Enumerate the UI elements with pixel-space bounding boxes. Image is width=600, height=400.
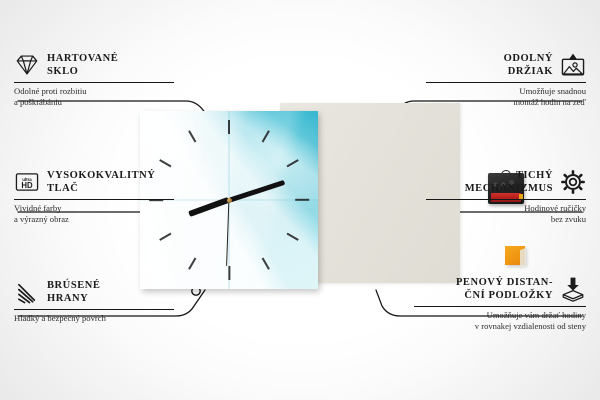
feature-title-line2: SKLO [47,65,118,78]
feature-desc-line2: v rovnakej vzdialenosti od steny [414,321,586,332]
feature-title: BRÚSENÉ HRANY [47,279,100,305]
feature-desc-line2: montáž hodin na zeď [426,97,586,108]
clock-tick-3 [295,199,309,201]
clock-tick-12 [228,120,230,134]
feature-title: HARTOVANÉ SKLO [47,52,118,78]
feature-header: ODOLNÝ DRŽIAK [426,52,586,78]
feature-desc-line1: Hladký a bezpečný povrch [14,313,174,324]
feature-title-line1: VYSOKOKVALITNÝ [47,169,155,182]
feature-header: ultra HD VYSOKOKVALITNÝ TLAČ [14,169,174,195]
feature-title-line1: PENOVÝ DISTAN- [456,276,553,289]
divider [14,199,174,200]
feature-desc-line1: Umožňuje vám držať hodiny [414,310,586,321]
feature-description: Odolné proti rozbitiu a poškrábániu [14,86,174,108]
feature-header: TICHÝ MECHANIZMUS [426,169,586,195]
feature-header: HARTOVANÉ SKLO [14,52,174,78]
feature-title: TICHÝ MECHANIZMUS [465,169,553,195]
clock-center-pin [227,198,232,203]
product-infographic: HARTOVANÉ SKLO Odolné proti rozbitiu a p… [0,0,600,400]
feature-description: Hladký a bezpečný povrch [14,313,174,324]
svg-text:HD: HD [21,181,33,190]
feature-desc-line2: a výrazný obraz [14,214,174,225]
divider [426,199,586,200]
feature-header: PENOVÝ DISTAN- ČNÍ PODLOŽKY [414,276,586,302]
feature-title: PENOVÝ DISTAN- ČNÍ PODLOŽKY [456,276,553,302]
feature-ground-edges: BRÚSENÉ HRANY Hladký a bezpečný povrch [14,279,174,324]
feature-high-quality-print: ultra HD VYSOKOKVALITNÝ TLAČ Vividné far… [14,169,174,225]
feature-silent-mechanism: TICHÝ MECHANIZMUS [426,169,586,225]
feature-header: BRÚSENÉ HRANY [14,279,174,305]
feature-title: ODOLNÝ DRŽIAK [504,52,553,78]
product-photo [140,103,460,295]
feature-desc-line2: bez zvuku [426,214,586,225]
divider [14,82,174,83]
feature-description: Hodinové ručičky bez zvuku [426,203,586,225]
feature-desc-line2: a poškrábániu [14,97,174,108]
feature-title-line2: HRANY [47,292,100,305]
foam-spacer-pad [505,246,525,265]
stacked-pad-arrow-icon [560,276,586,302]
gear-icon [560,169,586,195]
feature-description: Vividné farby a výrazný obraz [14,203,174,225]
divider [14,309,174,310]
feature-title-line2: ČNÍ PODLOŽKY [456,289,553,302]
feature-title-line1: BRÚSENÉ [47,279,100,292]
divider [426,82,586,83]
diamond-icon [14,52,40,78]
feature-desc-line1: Odolné proti rozbitiu [14,86,174,97]
feature-foam-spacers: PENOVÝ DISTAN- ČNÍ PODLOŽKY Umožňuje vám… [414,276,586,332]
picture-frame-icon [560,52,586,78]
diagonal-lines-icon [14,279,40,305]
feature-hardened-glass: HARTOVANÉ SKLO Odolné proti rozbitiu a p… [14,52,174,108]
feature-title-line1: HARTOVANÉ [47,52,118,65]
feature-title-line1: TICHÝ [465,169,553,182]
feature-description: Umožňuje snadnou montáž hodin na zeď [426,86,586,108]
clock-tick-6 [228,266,230,280]
feature-desc-line1: Vividné farby [14,203,174,214]
feature-description: Umožňuje vám držať hodiny v rovnakej vzd… [414,310,586,332]
divider [414,306,586,307]
feature-desc-line1: Umožňuje snadnou [426,86,586,97]
feature-durable-holder: ODOLNÝ DRŽIAK Umožňuje snadnou montáž ho… [426,52,586,108]
feature-title-line2: TLAČ [47,182,155,195]
feature-desc-line1: Hodinové ručičky [426,203,586,214]
feature-title: VYSOKOKVALITNÝ TLAČ [47,169,155,195]
feature-title-line2: DRŽIAK [504,65,553,78]
feature-title-line2: MECHANIZMUS [465,182,553,195]
feature-title-line1: ODOLNÝ [504,52,553,65]
ultra-hd-icon: ultra HD [14,169,40,195]
